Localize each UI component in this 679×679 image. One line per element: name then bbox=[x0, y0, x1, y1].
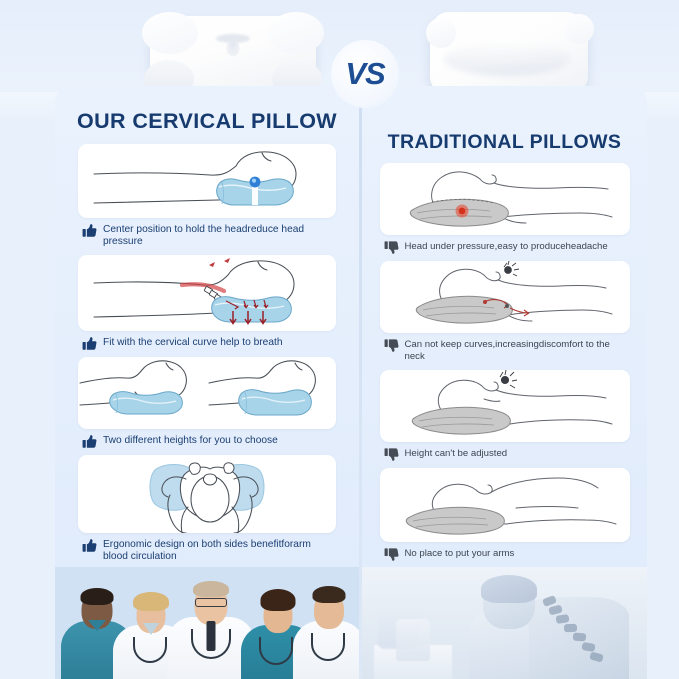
right-caption-4: No place to put your arms bbox=[380, 542, 630, 568]
thumbs-up-icon bbox=[82, 434, 97, 449]
traditional-pillow-corner-top-right bbox=[564, 14, 594, 44]
thumbs-up-icon bbox=[82, 336, 97, 351]
right-caption-3-text: Height can't be adjusted bbox=[405, 448, 508, 460]
illustration-no-place-for-arms bbox=[380, 468, 630, 542]
traditional-pillow-fold bbox=[444, 42, 570, 76]
cervical-pillow-lobe-left bbox=[142, 12, 198, 54]
thumbs-down-icon bbox=[384, 338, 399, 353]
left-caption-3-text: Two different heights for you to choose bbox=[103, 435, 278, 447]
left-caption-2-text: Fit with the cervical curve help to brea… bbox=[103, 337, 283, 349]
left-caption-3: Two different heights for you to choose bbox=[78, 429, 336, 455]
doctor-2-collar bbox=[143, 623, 159, 635]
cervical-pillow-low bbox=[110, 391, 183, 413]
thumbs-up-icon bbox=[82, 223, 97, 238]
left-column-title: OUR CERVICAL PILLOW bbox=[55, 109, 359, 134]
cervical-pillow-lobe-right bbox=[268, 12, 324, 54]
doctor-1-hair bbox=[81, 588, 114, 605]
pain-highlight-band bbox=[182, 284, 224, 291]
thumbs-down-icon bbox=[384, 240, 399, 255]
left-panel-2 bbox=[78, 255, 336, 331]
right-panel-2 bbox=[380, 261, 630, 333]
right-caption-2: Can not keep curves,increasingdiscomfort… bbox=[380, 333, 630, 370]
left-caption-2: Fit with the cervical curve help to brea… bbox=[78, 331, 336, 357]
left-panel-1 bbox=[78, 144, 336, 218]
doctor-3-hair bbox=[193, 581, 229, 597]
discomfort-burst bbox=[504, 261, 519, 276]
right-caption-1-text: Head under pressure,easy to produceheada… bbox=[405, 241, 608, 253]
traditional-pillows-column: TRADITIONAL PILLOWS bbox=[362, 86, 647, 679]
doctors-photo bbox=[55, 567, 359, 679]
flat-pillow-illustration bbox=[406, 507, 504, 534]
illustration-ergonomic-both-sides bbox=[78, 455, 336, 533]
illustration-cannot-keep-curves bbox=[380, 261, 630, 333]
discomfort-marks bbox=[209, 258, 230, 267]
cervical-pillow-high bbox=[239, 389, 312, 414]
right-caption-1: Head under pressure,easy to produceheada… bbox=[380, 235, 630, 261]
left-caption-4-text: Ergonomic design on both sides benefitfo… bbox=[103, 539, 336, 564]
cervical-pillow-center-notch bbox=[227, 40, 240, 56]
right-caption-4-text: No place to put your arms bbox=[405, 548, 515, 560]
right-column-title: TRADITIONAL PILLOWS bbox=[362, 131, 647, 154]
left-caption-1: Center position to hold the headreduce h… bbox=[78, 218, 336, 255]
right-caption-2-text: Can not keep curves,increasingdiscomfort… bbox=[405, 339, 630, 364]
discomfort-burst bbox=[500, 370, 517, 388]
illustration-height-not-adjustable bbox=[380, 370, 630, 442]
spine-overlay bbox=[541, 595, 603, 671]
neck-pain-scene bbox=[362, 567, 647, 679]
right-panel-1 bbox=[380, 163, 630, 235]
person-hair bbox=[481, 575, 537, 603]
glasses-icon bbox=[195, 598, 227, 607]
left-panel-4 bbox=[78, 455, 336, 533]
right-panel-list: Head under pressure,easy to produceheada… bbox=[362, 163, 647, 568]
illustration-head-under-pressure bbox=[380, 163, 630, 235]
thumbs-down-icon bbox=[384, 447, 399, 462]
table-lamp bbox=[396, 619, 430, 661]
neck-pain-photo bbox=[362, 567, 647, 679]
left-panel-list: Center position to hold the headreduce h… bbox=[55, 144, 359, 570]
comparison-columns: OUR CERVICAL PILLOW bbox=[0, 86, 679, 679]
vs-badge: VS bbox=[331, 40, 399, 108]
doctor-5 bbox=[293, 581, 359, 679]
left-panel-3 bbox=[78, 357, 336, 429]
right-panel-4 bbox=[380, 468, 630, 542]
person-holding-neck bbox=[453, 575, 629, 679]
doctors-photo-scene bbox=[55, 567, 359, 679]
doctor-5-hair bbox=[313, 586, 346, 603]
illustration-two-heights bbox=[78, 357, 336, 429]
thumbs-down-icon bbox=[384, 547, 399, 562]
illustration-center-position bbox=[78, 144, 336, 218]
doctor-4-hair bbox=[261, 589, 296, 611]
pressure-point bbox=[458, 208, 465, 215]
cervical-pillow-illustration bbox=[212, 296, 292, 321]
left-caption-1-text: Center position to hold the headreduce h… bbox=[103, 224, 336, 249]
flat-pillow-illustration bbox=[412, 407, 510, 434]
thumbs-up-icon bbox=[82, 538, 97, 553]
vs-label: VS bbox=[345, 56, 384, 92]
doctor-2-hair bbox=[133, 592, 169, 611]
doctor-1-collar bbox=[88, 620, 106, 631]
our-cervical-pillow-column: OUR CERVICAL PILLOW bbox=[55, 86, 359, 679]
traditional-pillow-corner-top-left bbox=[426, 18, 456, 48]
right-panel-3 bbox=[380, 370, 630, 442]
left-caption-4: Ergonomic design on both sides benefitfo… bbox=[78, 533, 336, 570]
right-caption-3: Height can't be adjusted bbox=[380, 442, 630, 468]
illustration-cervical-curve bbox=[78, 255, 336, 331]
